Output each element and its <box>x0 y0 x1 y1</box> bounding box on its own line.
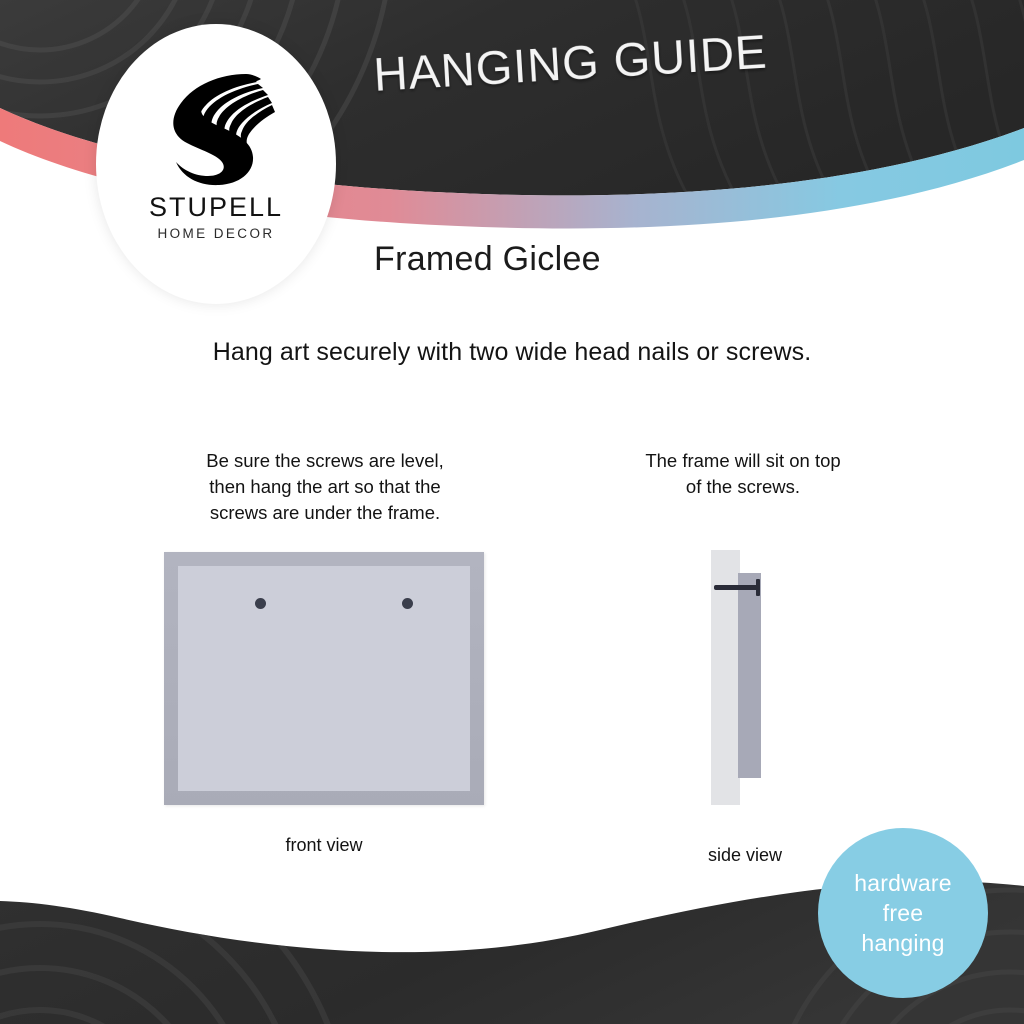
stupell-swoosh-s-logo-icon <box>150 58 282 190</box>
front-view-caption-line-2: then hang the art so that the <box>160 474 490 500</box>
side-view-diagram <box>690 540 800 820</box>
front-view-frame-diagram <box>164 552 484 805</box>
screw-dot-right <box>402 598 413 609</box>
front-view-caption: Be sure the screws are level, then hang … <box>160 448 490 526</box>
side-view-caption-line-1: The frame will sit on top <box>598 448 888 474</box>
screw-dot-left <box>255 598 266 609</box>
side-view-frame <box>738 573 761 778</box>
nail-shaft-icon <box>714 585 759 590</box>
product-name: Framed Giclee <box>374 240 601 279</box>
hanging-guide-infographic: STUPELL HOME DECOR HANGING GUIDE Framed … <box>0 0 1024 1024</box>
brand-name: STUPELL <box>149 192 283 223</box>
nail-head-icon <box>756 579 760 596</box>
front-view-caption-line-3: screws are under the frame. <box>160 500 490 526</box>
front-view-caption-line-1: Be sure the screws are level, <box>160 448 490 474</box>
badge-line-1: hardware <box>854 868 952 898</box>
brand-logo-badge: STUPELL HOME DECOR <box>96 24 336 304</box>
hardware-free-hanging-badge: hardware free hanging <box>818 828 988 998</box>
front-view-mat <box>178 566 470 791</box>
front-view-label: front view <box>164 835 484 856</box>
main-instruction: Hang art securely with two wide head nai… <box>0 338 1024 367</box>
brand-tagline: HOME DECOR <box>157 226 274 241</box>
badge-line-3: hanging <box>861 928 944 958</box>
side-view-caption-line-2: of the screws. <box>598 474 888 500</box>
badge-line-2: free <box>883 898 923 928</box>
side-view-label: side view <box>655 845 835 866</box>
side-view-caption: The frame will sit on top of the screws. <box>598 448 888 500</box>
